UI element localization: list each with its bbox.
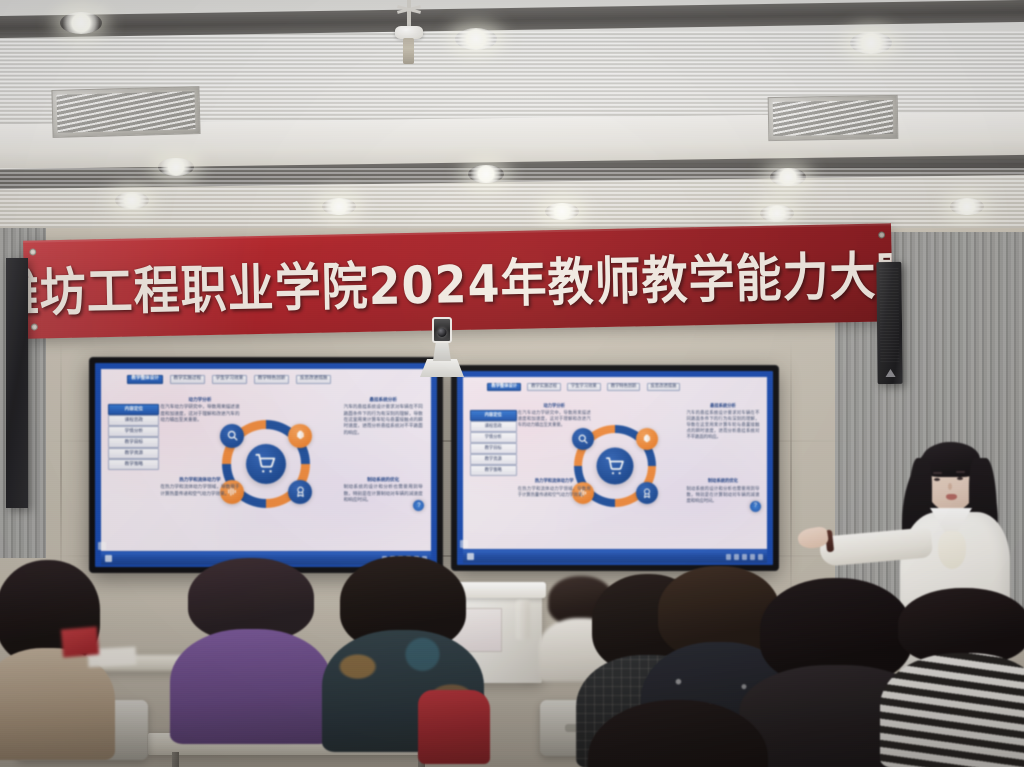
taskbar-icon[interactable] bbox=[750, 554, 755, 560]
quadrant-body: 在汽车动力学研究中，导数用来描述速度和加速度，这对于理解和改进汽车的动力输出至关… bbox=[518, 411, 591, 429]
quadrant-body: 制动系统的设计和分析也需要用到导数，特别是在计算制动对车辆的减速度和响应时间。 bbox=[686, 487, 759, 505]
tab-0[interactable]: 教学整体设计 bbox=[487, 383, 521, 392]
downlight bbox=[545, 203, 579, 220]
downlight bbox=[455, 28, 497, 50]
taskbar-icon[interactable] bbox=[467, 553, 474, 560]
tab-3[interactable]: 教学特色创新 bbox=[254, 375, 290, 384]
right-slide: 教学整体设计 教学实施过程 学生学习效果 教学特色创新 反思改进措施 内容定位 … bbox=[463, 377, 767, 549]
quadrant-top-right: 悬挂系统分析 汽车的悬挂系统设计要求对车辆在不同路面条件下的行为有深刻的理解，导… bbox=[686, 405, 759, 442]
classroom-scene: 潍坊工程职业学院2024年教师教学能力大赛 教学整体设计 教学实施过程 学生学习… bbox=[0, 0, 1024, 767]
magnifier-icon bbox=[220, 424, 244, 448]
ceiling bbox=[0, 0, 1024, 232]
quadrant-title: 悬挂系统分析 bbox=[686, 405, 759, 410]
sidebar-item-1[interactable]: 课程思政 bbox=[470, 421, 517, 432]
air-vent bbox=[51, 86, 200, 138]
camera-icon bbox=[432, 317, 452, 343]
taskbar-icon[interactable] bbox=[758, 554, 763, 560]
slide-tabs: 教学整体设计 教学实施过程 学生学习效果 教学特色创新 反思改进措施 bbox=[127, 375, 424, 384]
downlight bbox=[950, 198, 984, 215]
left-screen-frame: 教学整体设计 教学实施过程 学生学习效果 教学特色创新 反思改进措施 内容定位 … bbox=[95, 363, 437, 567]
quadrant-body: 在汽车动力学研究中，导数用来描述速度和加速度，这对于理解和改进汽车的动力输出至关… bbox=[160, 405, 239, 424]
quadrant-title: 动力学分析 bbox=[518, 405, 591, 410]
sidebar-item-2[interactable]: 学情分析 bbox=[108, 426, 159, 437]
tab-2[interactable]: 学生学习效果 bbox=[567, 383, 601, 392]
quadrant-title: 制动系统的优化 bbox=[344, 478, 423, 483]
torso bbox=[880, 653, 1024, 767]
speaker-logo-icon bbox=[885, 369, 895, 377]
brain-icon bbox=[288, 424, 312, 448]
hair bbox=[188, 558, 314, 640]
left-display[interactable]: 教学整体设计 教学实施过程 学生学习效果 教学特色创新 反思改进措施 内容定位 … bbox=[90, 358, 442, 572]
red-book bbox=[61, 626, 99, 657]
quadrant-top-left: 动力学分析 在汽车动力学研究中，导数用来描述速度和加速度，这对于理解和改进汽车的… bbox=[518, 405, 591, 430]
quadrant-bottom-right: 制动系统的优化 制动系统的设计和分析也需要用到导数，特别是在计算制动对车辆的减速… bbox=[686, 480, 759, 505]
sidebar-item-4[interactable]: 教学资源 bbox=[108, 448, 159, 459]
taskbar[interactable] bbox=[463, 550, 767, 563]
downlight bbox=[770, 168, 806, 186]
tab-4[interactable]: 反思改进措施 bbox=[296, 375, 332, 384]
quadrant-body: 在热力学和流体动力学领域，导数用于计算热量传递和空气动力学效果。 bbox=[160, 485, 239, 498]
audience-beige bbox=[0, 560, 100, 760]
quadrant-top-left: 动力学分析 在汽车动力学研究中，导数用来描述速度和加速度，这对于理解和改进汽车的… bbox=[160, 398, 239, 424]
downlight bbox=[158, 158, 194, 176]
start-icon[interactable] bbox=[460, 540, 468, 548]
tab-0[interactable]: 教学整体设计 bbox=[127, 375, 163, 384]
tab-3[interactable]: 教学特色创新 bbox=[607, 383, 641, 392]
slide-sidebar: 内容定位 课程思政 学情分析 教学目标 教学资源 教学策略 bbox=[108, 404, 159, 470]
sidebar-item-0[interactable]: 内容定位 bbox=[108, 404, 159, 415]
downlight bbox=[115, 192, 149, 209]
quadrant-title: 制动系统的优化 bbox=[686, 480, 759, 485]
downlight bbox=[468, 165, 504, 183]
quadrant-body: 制动系统的设计和分析也需要用到导数，特别是在计算制动对车辆的减速度和响应时间。 bbox=[344, 485, 423, 504]
sidebar-item-3[interactable]: 教学目标 bbox=[108, 437, 159, 448]
sidebar-item-2[interactable]: 学情分析 bbox=[470, 432, 517, 443]
presenter-bow bbox=[938, 531, 966, 569]
magnifier-icon bbox=[572, 428, 594, 450]
start-icon[interactable] bbox=[98, 542, 106, 550]
ceiling-projector bbox=[393, 0, 425, 78]
brain-icon bbox=[636, 428, 658, 450]
sidebar-item-0[interactable]: 内容定位 bbox=[470, 410, 517, 421]
audience-foreground-head bbox=[588, 700, 768, 767]
sidebar-item-5[interactable]: 教学策略 bbox=[470, 465, 517, 476]
camera-stand bbox=[420, 315, 464, 377]
slide-help-badge[interactable]: ? bbox=[413, 500, 424, 511]
quadrant-title: 悬挂系统分析 bbox=[344, 398, 423, 403]
award-icon bbox=[636, 482, 658, 504]
sidebar-item-3[interactable]: 教学目标 bbox=[470, 443, 517, 454]
quadrant-title: 热力学和流体动力学 bbox=[160, 478, 239, 483]
hair bbox=[588, 700, 768, 767]
downlight bbox=[850, 32, 892, 54]
quadrant-body: 汽车的悬挂系统设计要求对车辆在不同路面条件下的行为有深刻的理解，导数在这里用来计… bbox=[686, 411, 759, 441]
downlight bbox=[60, 12, 102, 34]
wall-speaker-right bbox=[876, 262, 902, 384]
taskbar-icon[interactable] bbox=[105, 555, 112, 562]
left-slide: 教学整体设计 教学实施过程 学生学习效果 教学特色创新 反思改进措施 内容定位 … bbox=[101, 369, 431, 551]
torso bbox=[170, 629, 331, 744]
quadrant-bottom-left: 热力学和流体动力学 在热力学和流体动力学领域，导数用于计算热量传递和空气动力学效… bbox=[160, 478, 239, 498]
right-screen-frame: 教学整体设计 教学实施过程 学生学习效果 教学特色创新 反思改进措施 内容定位 … bbox=[457, 371, 773, 565]
tab-4[interactable]: 反思改进措施 bbox=[647, 383, 681, 392]
slide-tabs: 教学整体设计 教学实施过程 学生学习效果 教学特色创新 反思改进措施 bbox=[487, 383, 761, 392]
sidebar-item-1[interactable]: 课程思政 bbox=[108, 415, 159, 426]
slide-help-badge[interactable]: ? bbox=[750, 501, 761, 512]
air-vent bbox=[768, 95, 899, 141]
quadrant-bottom-left: 热力学和流体动力学 在热力学和流体动力学领域，导数用于计算热量传递和空气动力学效… bbox=[518, 480, 591, 499]
sidebar-item-5[interactable]: 教学策略 bbox=[108, 459, 159, 470]
quadrant-body: 在热力学和流体动力学领域，导数用于计算热量传递和空气动力学效果。 bbox=[518, 487, 591, 499]
downlight bbox=[322, 198, 356, 215]
water-bottle bbox=[516, 600, 530, 640]
sidebar-item-4[interactable]: 教学资源 bbox=[470, 454, 517, 465]
presenter-mouth bbox=[946, 494, 957, 500]
red-bag bbox=[418, 690, 490, 764]
audience-striped bbox=[898, 588, 1024, 767]
tab-1[interactable]: 教学实施过程 bbox=[527, 383, 561, 392]
tab-1[interactable]: 教学实施过程 bbox=[170, 375, 206, 384]
shopping-cart-icon bbox=[246, 444, 286, 484]
slide-sidebar: 内容定位 课程思政 学情分析 教学目标 教学资源 教学策略 bbox=[470, 410, 517, 476]
tab-2[interactable]: 学生学习效果 bbox=[212, 375, 248, 384]
wall-speaker-left bbox=[6, 258, 28, 508]
taskbar-icon[interactable] bbox=[726, 554, 731, 560]
taskbar-icon[interactable] bbox=[742, 554, 747, 560]
award-icon bbox=[288, 480, 312, 504]
ceiling-slats-lower bbox=[0, 168, 1024, 232]
shopping-cart-icon bbox=[597, 448, 634, 485]
banner-text: 潍坊工程职业学院2024年教师教学能力大赛 bbox=[23, 235, 893, 328]
quadrant-body: 汽车的悬挂系统设计要求对车辆在不同路面条件下的行为有深刻的理解，导数在这里用来计… bbox=[344, 405, 423, 437]
right-display[interactable]: 教学整体设计 教学实施过程 学生学习效果 教学特色创新 反思改进措施 内容定位 … bbox=[452, 366, 778, 570]
quadrant-title: 热力学和流体动力学 bbox=[518, 480, 591, 485]
taskbar-icon[interactable] bbox=[734, 554, 739, 560]
downlight bbox=[760, 205, 794, 222]
quadrant-bottom-right: 制动系统的优化 制动系统的设计和分析也需要用到导数，特别是在计算制动对车辆的减速… bbox=[344, 478, 423, 504]
quadrant-title: 动力学分析 bbox=[160, 398, 239, 403]
audience-purple bbox=[188, 558, 314, 744]
quadrant-top-right: 悬挂系统分析 汽车的悬挂系统设计要求对车辆在不同路面条件下的行为有深刻的理解，导… bbox=[344, 398, 423, 437]
